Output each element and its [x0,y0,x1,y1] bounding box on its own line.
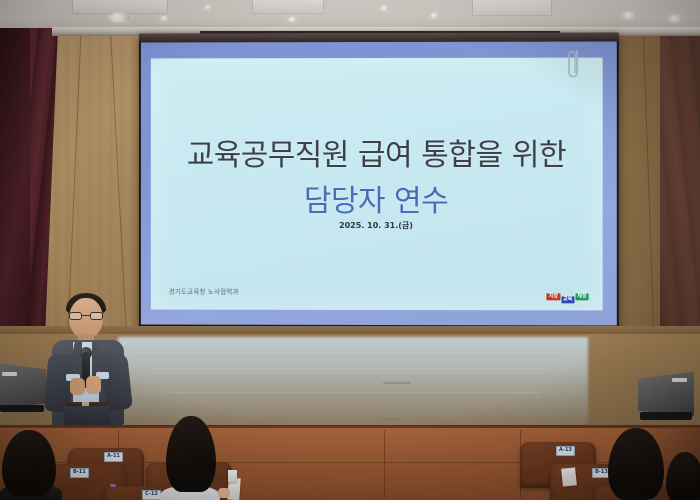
presenter-hand-left [70,378,85,395]
seat-label: B-11 [70,468,89,478]
attendee-hand [218,488,230,498]
floor-streak [150,368,550,369]
ceiling-panel [472,0,552,16]
stage-curtain-right [660,28,700,328]
presenter-hand-right [86,376,101,394]
monitor-badge [672,378,687,382]
handout-paper [228,470,237,482]
logo-part-1: 지방 [547,293,560,300]
floor-marking [380,418,400,420]
slide-title-line2: 담당자 연수 [151,176,603,220]
logo-part-2: 교육 [561,296,574,303]
slide-footer-org: 경기도교육청 노사협력과 [169,286,239,296]
ceiling-panel [72,0,168,14]
slide-title-line1: 교육공무직원 급여 통합을 위한 [151,130,603,174]
stage-monitor-left [0,363,46,409]
ceiling-light-icon [204,5,213,10]
floor-streak [130,352,560,353]
glasses-icon [69,312,103,320]
small-object [110,484,116,487]
ceiling-light-icon [430,13,439,18]
wall-panel-line [384,430,385,498]
ceiling-light-icon [380,6,389,11]
slide-logo: 지방 교육 재정 [547,293,589,300]
monitor-base [0,405,44,412]
auditorium-photo: 교육공무직원 급여 통합을 위한 담당자 연수 2025. 10. 31.(금)… [0,0,700,500]
ceiling-light-icon [108,13,130,22]
seat-label: A-13 [556,446,575,456]
ceiling-light-icon [160,16,169,21]
handout-paper [561,467,577,486]
seat-label: C-12 [142,490,161,500]
monitor-badge [2,372,17,376]
monitor-base [640,412,692,420]
presenter [42,292,138,440]
presentation-slide: 교육공무직원 급여 통합을 위한 담당자 연수 2025. 10. 31.(금)… [151,58,603,311]
seat-label: A-11 [104,452,123,462]
slide-date: 2025. 10. 31.(금) [151,220,603,231]
floor-marking [383,382,411,384]
paperclip-icon [566,49,580,83]
floor-streak [170,392,540,393]
logo-part-3: 재정 [575,293,588,300]
ceiling-light-icon [622,12,637,19]
projected-image-area: 교육공무직원 급여 통합을 위한 담당자 연수 2025. 10. 31.(금)… [141,41,617,325]
ceiling-panel [252,0,324,14]
stage-curtain-left-inner [0,28,30,330]
ceiling-light-icon [288,17,297,22]
projection-screen: 교육공무직원 급여 통합을 위한 담당자 연수 2025. 10. 31.(금)… [139,32,619,333]
ceiling-light-icon [668,15,683,22]
